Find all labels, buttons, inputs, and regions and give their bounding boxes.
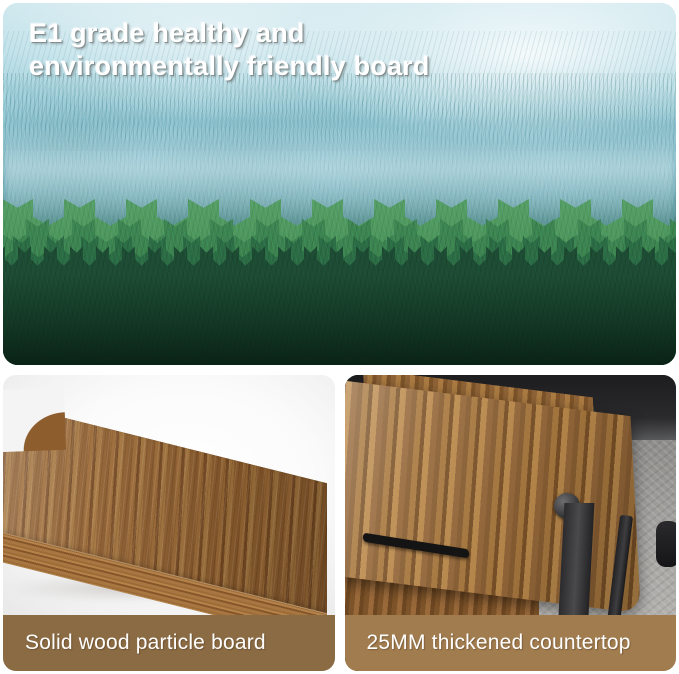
panel-thickened-countertop[interactable]: 25MM thickened countertop xyxy=(345,375,677,671)
desk-caster-wheel xyxy=(656,521,676,567)
panel-solid-wood-particle-board[interactable]: Solid wood particle board xyxy=(3,375,335,671)
panel-caption-solid-wood-particle-board: Solid wood particle board xyxy=(3,615,335,671)
banner-headline: E1 grade healthy and environmentally fri… xyxy=(29,17,430,83)
forest-banner-panel: E1 grade healthy and environmentally fri… xyxy=(3,3,676,365)
panel-caption-thickened-countertop: 25MM thickened countertop xyxy=(345,615,677,671)
product-feature-collage: E1 grade healthy and environmentally fri… xyxy=(0,0,679,674)
feature-panels-row: Solid wood particle board 25MM thickened… xyxy=(3,375,676,671)
board-rounded-corner xyxy=(3,388,66,452)
desk-countertop xyxy=(345,379,641,614)
forest-floor-shade xyxy=(3,275,676,365)
